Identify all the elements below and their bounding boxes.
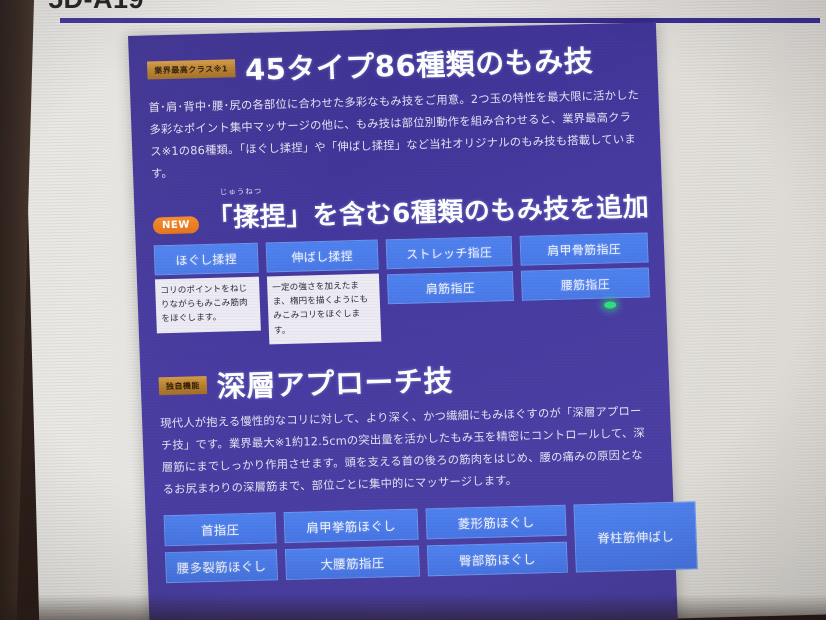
ruby-annotation: じゅうねつ xyxy=(220,186,263,198)
technique-chip[interactable]: 腰筋指圧 xyxy=(521,268,650,301)
technique-grid: ほぐし揉捏 コリのポイントをねじりながらもみこみ筋肉をほぐします。 伸ばし揉捏 … xyxy=(154,233,650,348)
deep-technique-grid: 首指圧 肩甲挙筋ほぐし 菱形筋ほぐし 脊柱筋伸ばし 腰多裂筋ほぐし 大腰筋指圧 … xyxy=(164,502,658,583)
technique-chip[interactable]: ストレッチ指圧 xyxy=(386,236,513,269)
technique-chip[interactable]: 肩筋指圧 xyxy=(387,271,514,304)
deep-technique-chip[interactable]: 大腰筋指圧 xyxy=(285,545,420,579)
deep-technique-chip[interactable]: 肩甲挙筋ほぐし xyxy=(284,508,419,542)
industry-top-class-badge: 業界最高クラス※1 xyxy=(147,59,235,79)
section2-header: NEW じゅうねつ 「揉捏」を含む6種類のもみ技を追加 xyxy=(152,187,645,237)
product-feature-panel: 業界最高クラス※1 45タイプ86種類のもみ技 首･肩･背中･腰･尻の各部位に合… xyxy=(128,22,678,620)
photograph-of-presentation-screen: 5D-A19 業界最高クラス※1 45タイプ86種類のもみ技 首･肩･背中･腰･… xyxy=(0,0,826,620)
technique-cell: ほぐし揉捏 コリのポイントをねじりながらもみこみ筋肉をほぐします。 xyxy=(154,243,261,333)
section1-body-text: 首･肩･背中･腰･尻の各部位に合わせた多彩なもみ技をご用意。2つ玉の特性を最大限… xyxy=(148,85,643,186)
slide-header-title: 5D-A19 xyxy=(48,0,144,15)
room-edge-shadow xyxy=(0,0,34,620)
deep-technique-chip[interactable]: 臀部筋ほぐし xyxy=(427,541,568,576)
section1-header: 業界最高クラス※1 45タイプ86種類のもみ技 xyxy=(147,37,640,92)
technique-description: コリのポイントをねじりながらもみこみ筋肉をほぐします。 xyxy=(155,277,261,333)
technique-chip[interactable]: ほぐし揉捏 xyxy=(154,243,259,276)
section3-header: 独自機能 深層アプローチ技 xyxy=(158,352,651,407)
title-with-ruby: じゅうねつ 「揉捏」を含む6種類のもみ技を追加 xyxy=(206,186,650,235)
deep-technique-chip[interactable]: 菱形筋ほぐし xyxy=(425,505,566,540)
technique-cell: ストレッチ指圧 肩筋指圧 xyxy=(386,236,514,304)
new-badge: NEW xyxy=(153,216,200,234)
technique-chip[interactable]: 伸ばし揉捏 xyxy=(266,240,379,273)
technique-description: 一定の強さを加えたまま、楕円を描くようにもみこみコリをほぐします。 xyxy=(267,274,381,345)
deep-technique-chip[interactable]: 腰多裂筋ほぐし xyxy=(165,549,278,583)
unique-feature-badge: 独自機能 xyxy=(159,376,208,395)
section2-title: 「揉捏」を含む6種類のもみ技を追加 xyxy=(206,192,650,234)
header-divider-rule xyxy=(60,18,820,23)
section1-title: 45タイプ86種類のもみ技 xyxy=(244,38,594,89)
technique-cell: 伸ばし揉捏 一定の強さを加えたまま、楕円を描くようにもみこみコリをほぐします。 xyxy=(266,240,382,345)
technique-cell: 肩甲骨筋指圧 腰筋指圧 xyxy=(520,233,650,301)
section3-body-text: 現代人が抱える慢性的なコリに対して、より深く、かつ繊細にもみほぐすのが「深層アプ… xyxy=(160,400,655,501)
deep-technique-chip[interactable]: 脊柱筋伸ばし xyxy=(573,501,697,572)
section3-title: 深層アプローチ技 xyxy=(216,357,453,405)
deep-technique-chip[interactable]: 首指圧 xyxy=(164,512,277,546)
technique-chip[interactable]: 肩甲骨筋指圧 xyxy=(520,233,649,266)
bottom-shadow-wedge xyxy=(0,594,826,620)
